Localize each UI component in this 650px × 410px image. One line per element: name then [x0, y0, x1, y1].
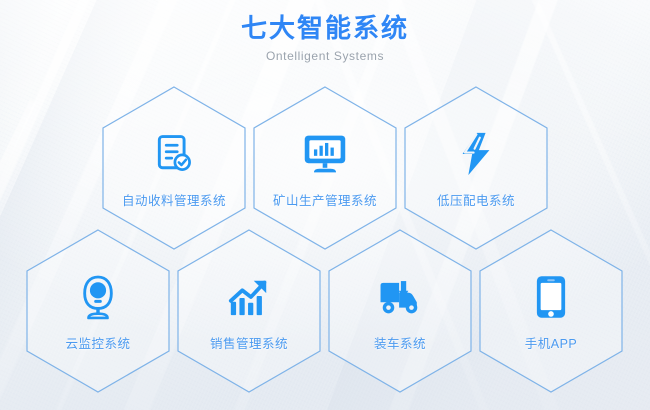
- system-label: 低压配电系统: [437, 190, 515, 209]
- infographic-canvas: 七大智能系统 Ontelligent Systems: [0, 0, 650, 410]
- monitor-chart-icon: [302, 131, 348, 177]
- system-label: 手机APP: [525, 333, 578, 352]
- system-label: 云监控系统: [65, 333, 130, 352]
- system-label: 自动收料管理系统: [122, 190, 226, 209]
- system-hex-mobile-app[interactable]: 手机APP: [477, 228, 625, 394]
- growth-chart-icon: [226, 274, 272, 320]
- system-hex-low-voltage-distribution[interactable]: 低压配电系统: [402, 85, 550, 251]
- system-hex-cloud-monitoring[interactable]: 云监控系统: [24, 228, 172, 394]
- page-title: 七大智能系统: [0, 14, 650, 44]
- security-camera-icon: [75, 274, 121, 320]
- system-label: 装车系统: [374, 333, 426, 352]
- header: 七大智能系统 Ontelligent Systems: [0, 14, 650, 63]
- smartphone-icon: [528, 274, 574, 320]
- system-hex-mine-production-management[interactable]: 矿山生产管理系统: [251, 85, 399, 251]
- page-subtitle: Ontelligent Systems: [0, 49, 650, 63]
- system-hex-truck-loading[interactable]: 装车系统: [326, 228, 474, 394]
- system-hex-auto-material-receiving[interactable]: 自动收料管理系统: [100, 85, 248, 251]
- truck-loading-icon: [377, 274, 423, 320]
- system-hex-sales-management[interactable]: 销售管理系统: [175, 228, 323, 394]
- system-label: 矿山生产管理系统: [273, 190, 377, 209]
- document-check-icon: [151, 131, 197, 177]
- lightning-bolt-icon: [453, 131, 499, 177]
- system-label: 销售管理系统: [210, 333, 288, 352]
